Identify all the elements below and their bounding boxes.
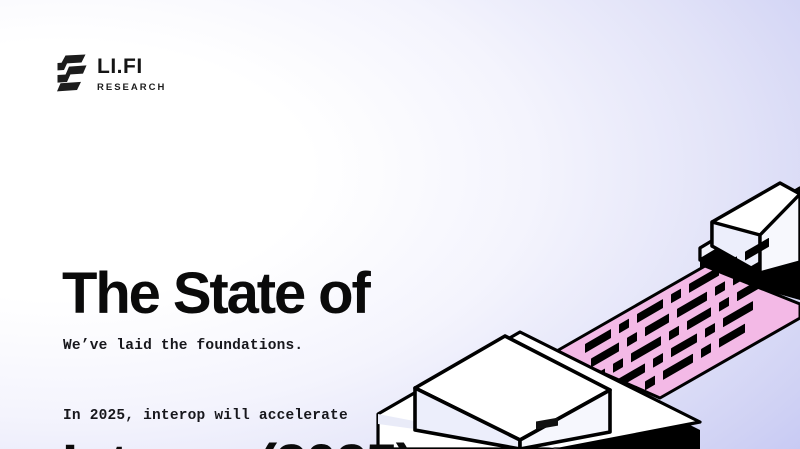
- subtitle-line-1: We’ve laid the foundations.: [63, 335, 348, 358]
- box-lower-left: [415, 336, 610, 449]
- platform-upper-right: [700, 188, 800, 300]
- lifi-logo-mark-icon: [57, 54, 87, 92]
- page-subtitle: We’ve laid the foundations. In 2025, int…: [63, 288, 348, 449]
- brand-sub-wordmark: RESEARCH: [97, 83, 166, 93]
- platform-lower-left: [378, 332, 700, 449]
- brand-logo[interactable]: LI.FI RESEARCH: [57, 54, 166, 93]
- subtitle-line-2: In 2025, interop will accelerate: [63, 405, 348, 428]
- cover-canvas: LI.FI RESEARCH: [0, 0, 800, 449]
- brand-wordmark-group: LI.FI RESEARCH: [97, 54, 166, 93]
- bridge-pink-ribbon: [555, 238, 800, 440]
- box-slot-detail: [536, 418, 558, 430]
- brand-wordmark: LI.FI: [97, 56, 166, 77]
- box-upper-right: [712, 183, 800, 273]
